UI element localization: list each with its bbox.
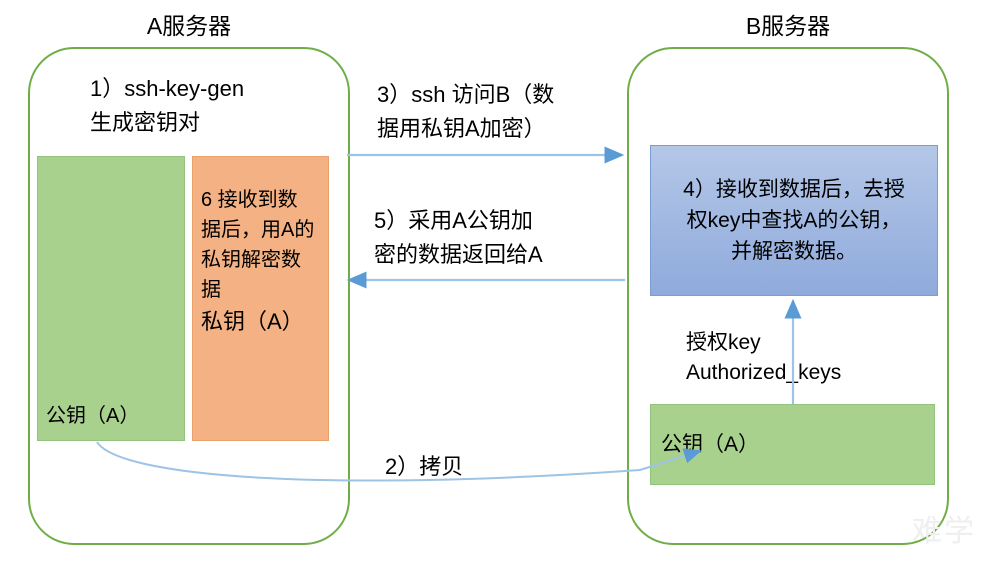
server-a-public-key-box: 公钥（A） bbox=[37, 156, 185, 441]
server-a-title: A服务器 bbox=[28, 12, 350, 40]
server-a-private-key-box: 6 接收到数 据后，用A的 私钥解密数 据 私钥（A） bbox=[192, 156, 329, 441]
authorized-keys-label: 授权key Authorized_keys bbox=[686, 328, 916, 388]
step5-return-label: 5）采用A公钥加 密的数据返回给A bbox=[374, 204, 614, 272]
server-b-decrypt-box: 4）接收到数据后，去授 权key中查找A的公钥， 并解密数据。 bbox=[650, 145, 938, 296]
watermark: 难学 bbox=[912, 506, 976, 550]
server-a-private-key-label: 私钥（A） bbox=[201, 307, 328, 337]
step3-ssh-access-label: 3）ssh 访问B（数 据用私钥A加密） bbox=[377, 78, 609, 146]
step1-ssh-key-gen-label: 1）ssh-key-gen 生成密钥对 bbox=[90, 72, 330, 140]
server-b-title: B服务器 bbox=[627, 12, 949, 40]
step2-copy-label: 2）拷贝 bbox=[385, 452, 565, 482]
step6-decrypt-note: 6 接收到数 据后，用A的 私钥解密数 据 bbox=[201, 185, 328, 305]
server-a-public-key-label: 公钥（A） bbox=[46, 402, 139, 430]
server-b-public-key-label: 公钥（A） bbox=[661, 431, 759, 459]
server-b-public-key-box: 公钥（A） bbox=[650, 404, 935, 485]
step4-decrypt-label: 4）接收到数据后，去授 权key中查找A的公钥， 并解密数据。 bbox=[683, 174, 905, 267]
diagram-canvas: A服务器 1）ssh-key-gen 生成密钥对 公钥（A） 6 接收到数 据后… bbox=[0, 0, 982, 562]
